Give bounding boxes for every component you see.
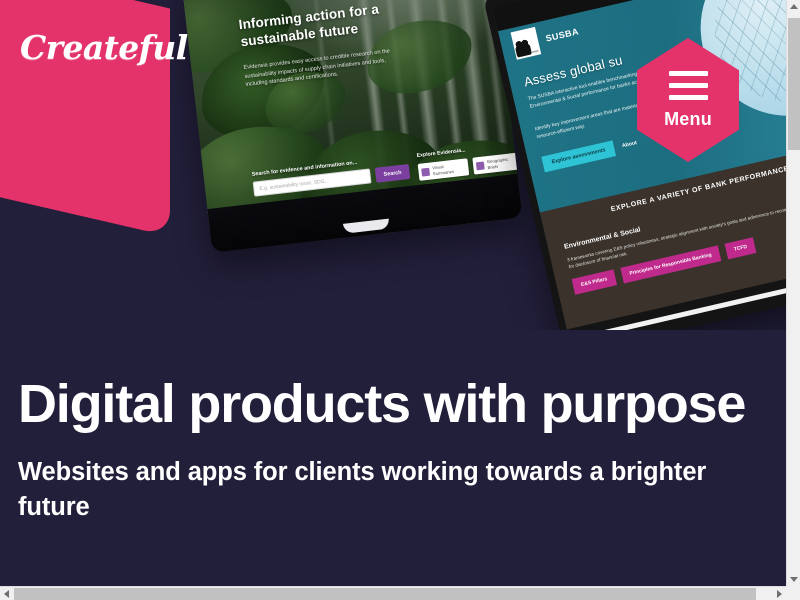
susba-cta-row: Explore assessments About xyxy=(541,135,638,172)
wwf-panda-icon: WWF xyxy=(511,27,542,60)
evidensia-tile-label: Geographic Briefs xyxy=(487,155,521,170)
scroll-down-icon[interactable] xyxy=(790,577,798,582)
horizontal-scrollbar-thumb[interactable] xyxy=(14,588,756,600)
susba-tag[interactable]: TCFD xyxy=(724,237,756,259)
site-logo[interactable]: Createful xyxy=(20,28,188,67)
scroll-right-icon[interactable] xyxy=(777,590,782,598)
showcase-card-susba[interactable]: PILOT WWF SUSBA Assess global su The SUS… xyxy=(483,0,786,330)
hero-media-band: Informing action for a sustainable futur… xyxy=(0,0,786,330)
vertical-scrollbar[interactable] xyxy=(786,0,800,586)
scrollbar-corner xyxy=(786,586,800,600)
wwf-caption: WWF xyxy=(532,50,540,55)
hero-text-block: Digital products with purpose Websites a… xyxy=(18,374,766,525)
scroll-up-icon[interactable] xyxy=(790,4,798,9)
page-viewport: Informing action for a sustainable futur… xyxy=(0,0,786,586)
evidensia-tile-label: Visual Summaries xyxy=(432,162,466,177)
susba-tag[interactable]: E&S Pillars xyxy=(572,269,617,294)
tablet-screen: PILOT WWF SUSBA Assess global su The SUS… xyxy=(492,0,786,329)
scroll-left-icon[interactable] xyxy=(4,590,9,598)
page-subtitle: Websites and apps for clients working to… xyxy=(18,455,766,525)
susba-about-link[interactable]: About xyxy=(622,140,638,149)
visual-summaries-icon xyxy=(421,167,430,176)
vertical-scrollbar-thumb[interactable] xyxy=(788,18,800,150)
page-title: Digital products with purpose xyxy=(18,374,766,435)
hamburger-icon xyxy=(669,71,708,100)
menu-button-label: Menu xyxy=(664,109,712,130)
geographic-briefs-icon xyxy=(476,161,485,170)
horizontal-scrollbar[interactable] xyxy=(0,586,786,600)
explore-assessments-button[interactable]: Explore assessments xyxy=(541,140,616,172)
susba-brand-label: SUSBA xyxy=(545,26,580,43)
showcase-card-evidensia[interactable]: Informing action for a sustainable futur… xyxy=(182,0,523,253)
